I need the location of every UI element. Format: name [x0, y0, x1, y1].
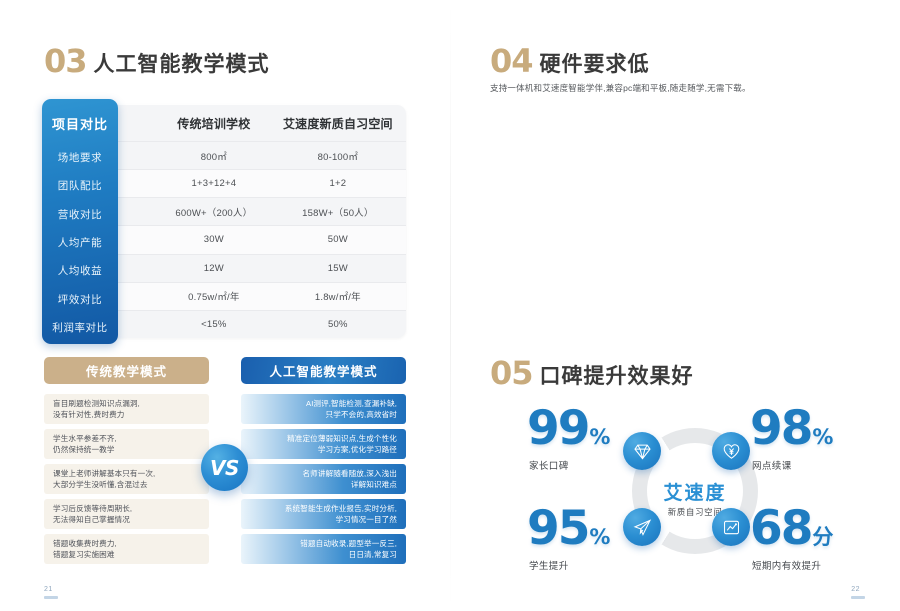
item-line-1: 错题收集费时费力,: [53, 538, 209, 549]
item-line-1: 精准定位薄弱知识点,生成个性化: [287, 433, 397, 444]
cell-b: 1+2: [270, 178, 406, 189]
cell-b: 15W: [270, 263, 406, 274]
page-left: 03 人工智能教学模式 传统培训学校 艾速度新质自习空间 800㎡ 80-100…: [0, 0, 450, 611]
stat-caption-68: 短期内有效提升: [752, 558, 821, 572]
item-line-1: 盲目刷题检测知识点漏洞,: [53, 398, 209, 409]
stat-caption-95: 学生提升: [529, 558, 569, 572]
list-item: 课堂上老师讲解基本只有一次, 大部分学生没听懂,含混过去: [44, 464, 209, 494]
list-item: 精准定位薄弱知识点,生成个性化 学习方案,优化学习路径: [241, 429, 406, 459]
section-04-heading: 04 硬件要求低: [490, 48, 650, 75]
item-line-1: 系统智能生成作业报告,实时分析,: [285, 503, 397, 514]
stat-number: 68: [750, 501, 811, 556]
list-item: 系统智能生成作业报告,实时分析, 学习情况一目了然: [241, 499, 406, 529]
list-item: 盲目刷题检测知识点漏洞, 没有针对性,费时费力: [44, 394, 209, 424]
cell-a: <15%: [158, 319, 270, 330]
list-item: 学生水平参差不齐, 仍然保持统一教学: [44, 429, 209, 459]
item-line-2: 仍然保持统一教学: [53, 444, 209, 455]
item-line-2: 错题复习实施困难: [53, 549, 209, 560]
item-line-2: 日日清,常复习: [349, 549, 397, 560]
section-05-number: 05: [490, 360, 533, 387]
cell-a: 800㎡: [158, 149, 270, 163]
table-header-col-b: 艾速度新质自习空间: [270, 115, 406, 132]
cell-b: 1.8w/㎡/年: [270, 289, 406, 303]
item-line-2: 无法得知自己掌握情况: [53, 514, 209, 525]
section-04-title: 硬件要求低: [540, 54, 650, 75]
item-line-1: AI测评,智能检测,查漏补缺,: [306, 398, 397, 409]
stat-caption-99: 家长口碑: [529, 458, 569, 472]
stat-unit: 分: [812, 525, 833, 549]
stat-number: 99: [527, 401, 588, 456]
chart-image-icon: [712, 508, 750, 546]
stat-value-68: 68分: [750, 505, 833, 552]
item-line-2: 学习方案,优化学习路径: [318, 444, 397, 455]
page-number: 21: [44, 586, 53, 593]
cell-b: 158W+（50人）: [270, 205, 406, 219]
section-04-number: 04: [490, 48, 533, 75]
blue-column-item: 人均产能: [42, 228, 118, 256]
stat-unit: %: [589, 425, 610, 449]
section-03-heading: 03 人工智能教学模式: [44, 48, 270, 75]
cell-a: 30W: [158, 234, 270, 245]
blue-column-header: 项目对比: [42, 103, 118, 143]
blue-column-item: 人均收益: [42, 257, 118, 285]
cell-b: 50W: [270, 234, 406, 245]
stat-value-98: 98%: [750, 405, 833, 452]
list-item: 学习后反馈等待周期长, 无法得知自己掌握情况: [44, 499, 209, 529]
heart-yen-icon: [712, 432, 750, 470]
brand-name: 艾速度: [632, 478, 758, 505]
item-line-1: 学生水平参差不齐,: [53, 433, 209, 444]
stat-caption-98: 网点续课: [752, 458, 792, 472]
cell-b: 80-100㎡: [270, 149, 406, 163]
cell-b: 50%: [270, 319, 406, 330]
item-line-2: 学习情况一目了然: [335, 514, 397, 525]
cell-a: 600W+（200人）: [158, 205, 270, 219]
blue-column-item: 场地要求: [42, 143, 118, 171]
cell-a: 1+3+12+4: [158, 178, 270, 189]
item-line-1: 错题自动收录,题型举一反三,: [300, 538, 397, 549]
item-line-2: 大部分学生没听懂,含混过去: [53, 479, 209, 490]
section-03-number: 03: [44, 48, 87, 75]
paper-plane-icon: [623, 508, 661, 546]
list-item: 错题收集费时费力, 错题复习实施困难: [44, 534, 209, 564]
stat-value-99: 99%: [527, 405, 610, 452]
ai-panel-title: 人工智能教学模式: [241, 357, 406, 384]
item-line-2: 详解知识难点: [351, 479, 397, 490]
stat-unit: %: [812, 425, 833, 449]
vs-badge: VS: [201, 444, 248, 491]
section-05-title: 口碑提升效果好: [540, 366, 694, 387]
section-03-title: 人工智能教学模式: [94, 54, 270, 75]
diamond-icon: [623, 432, 661, 470]
cell-a: 0.75w/㎡/年: [158, 289, 270, 303]
list-item: AI测评,智能检测,查漏补缺, 只学不会的,高效省时: [241, 394, 406, 424]
stat-number: 95: [527, 501, 588, 556]
section-05-heading: 05 口碑提升效果好: [490, 360, 694, 387]
item-line-2: 只学不会的,高效省时: [326, 409, 397, 420]
item-line-1: 课堂上老师讲解基本只有一次,: [53, 468, 209, 479]
comparison-label-column: 项目对比 场地要求 团队配比 营收对比 人均产能 人均收益 坪效对比 利润率对比: [42, 99, 118, 344]
stat-unit: %: [589, 525, 610, 549]
list-item: 错题自动收录,题型举一反三, 日日清,常复习: [241, 534, 406, 564]
blue-column-item: 营收对比: [42, 200, 118, 228]
stat-value-95: 95%: [527, 505, 610, 552]
blue-column-item: 坪效对比: [42, 285, 118, 313]
blue-column-item: 团队配比: [42, 171, 118, 199]
section-04-subtitle: 支持一体机和艾速度智能学伴,兼容pc端和平板,随走随学,无需下载。: [490, 82, 751, 94]
item-line-2: 没有针对性,费时费力: [53, 409, 209, 420]
cell-a: 12W: [158, 263, 270, 274]
item-line-1: 名师讲解随看随放,深入浅出: [302, 468, 397, 479]
item-line-1: 学习后反馈等待周期长,: [53, 503, 209, 514]
table-header-col-a: 传统培训学校: [158, 115, 270, 132]
page-number: 22: [851, 586, 860, 593]
traditional-panel-title: 传统教学模式: [44, 357, 209, 384]
stat-number: 98: [750, 401, 811, 456]
list-item: 名师讲解随看随放,深入浅出 详解知识难点: [241, 464, 406, 494]
blue-column-item: 利润率对比: [42, 314, 118, 342]
